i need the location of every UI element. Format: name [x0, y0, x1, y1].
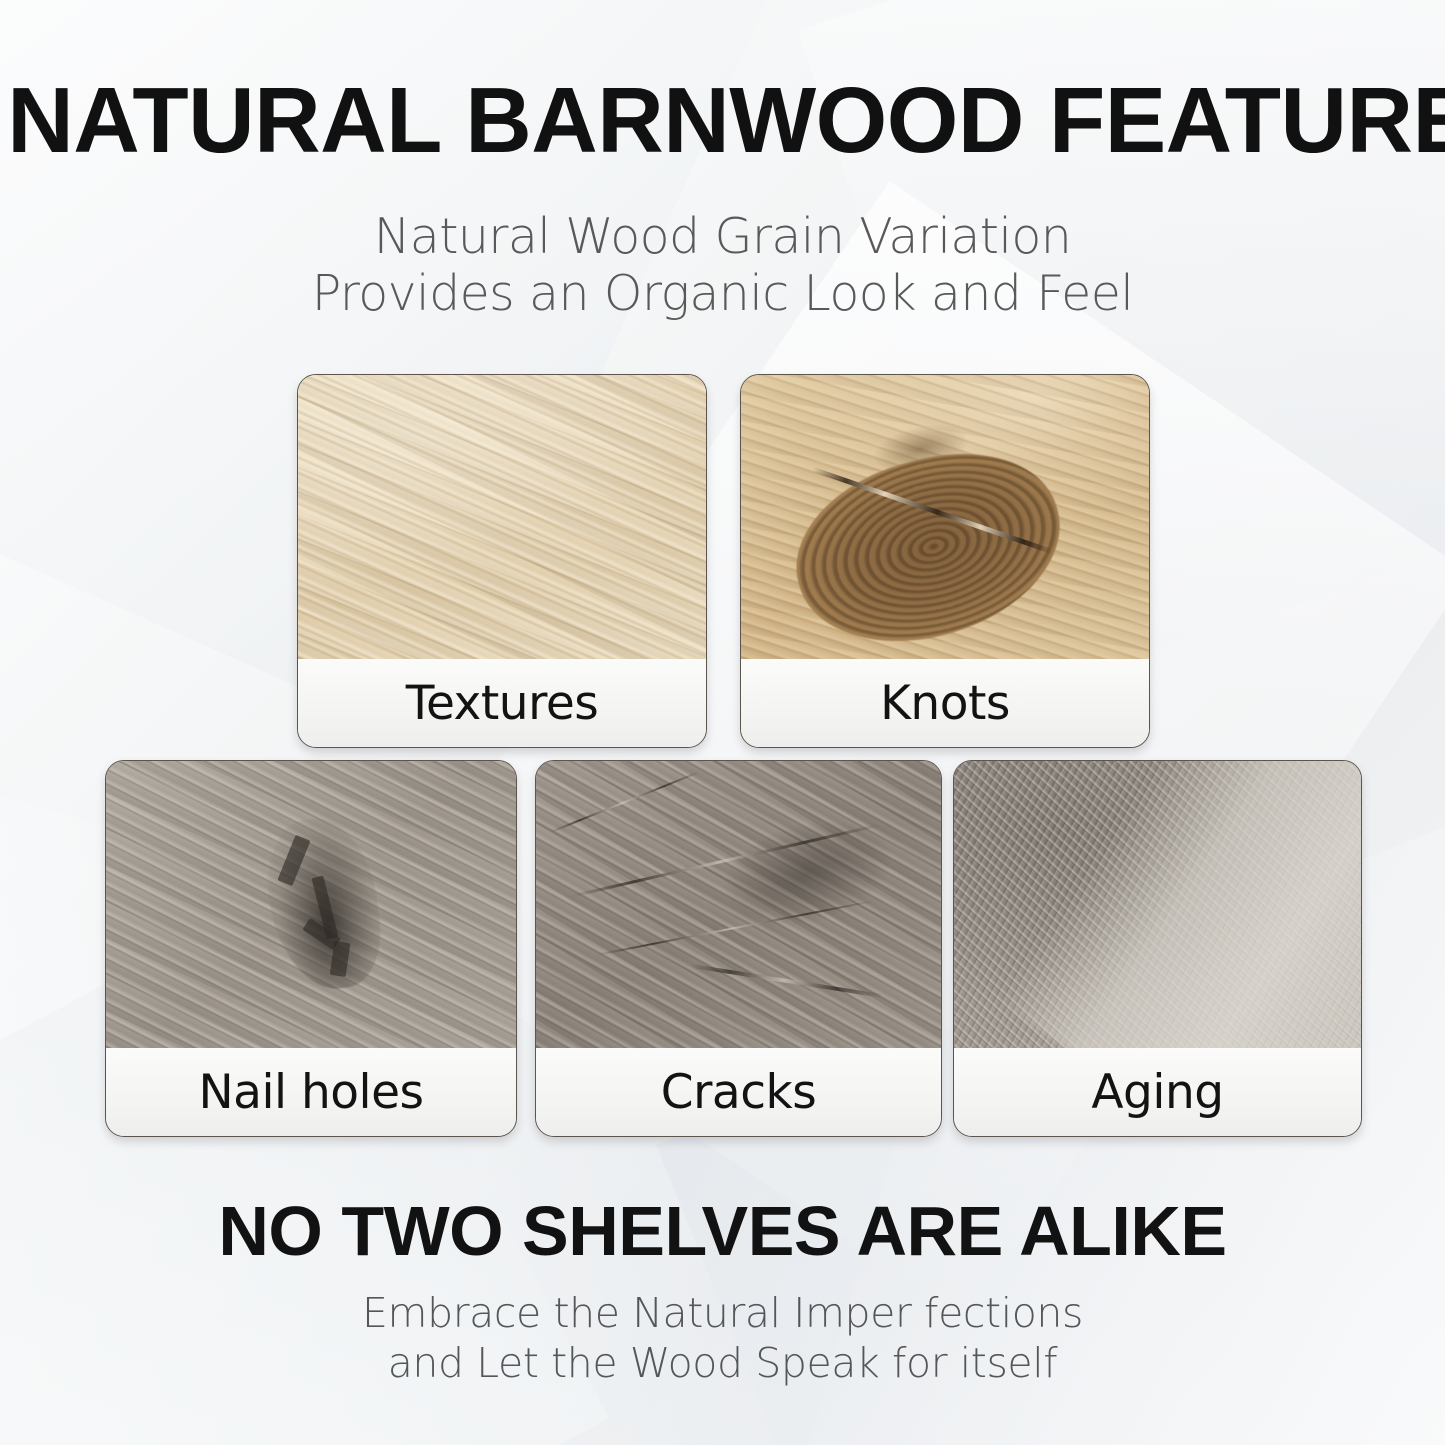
footer-headline: NO TWO SHELVES ARE ALIKE: [0, 1196, 1445, 1266]
page-title: NATURAL BARNWOOD FEATURES: [7, 74, 1438, 167]
feature-label-cracks: Cracks: [536, 1048, 941, 1136]
page-subtitle-line-1: Natural Wood Grain Variation: [0, 208, 1445, 265]
feature-image-cracks: [536, 761, 941, 1048]
page-subtitle-line-2: Provides an Organic Look and Feel: [0, 265, 1445, 322]
footer-tagline-line-1: Embrace the Natural Imper fections: [0, 1288, 1445, 1338]
feature-label-knots: Knots: [741, 659, 1149, 747]
feature-image-knots: [741, 375, 1149, 659]
feature-label-nail-holes: Nail holes: [106, 1048, 516, 1136]
wood-texture-light-grain: [298, 375, 706, 659]
feature-label-textures: Textures: [298, 659, 706, 747]
feature-card-cracks[interactable]: Cracks: [535, 760, 942, 1137]
infographic-page: NATURAL BARNWOOD FEATURES Natural Wood G…: [0, 0, 1445, 1445]
feature-card-nail-holes[interactable]: Nail holes: [105, 760, 517, 1137]
footer-tagline-line-2: and Let the Wood Speak for itself: [0, 1338, 1445, 1388]
page-subtitle: Natural Wood Grain Variation Provides an…: [0, 208, 1445, 323]
feature-image-textures: [298, 375, 706, 659]
feature-image-nail-holes: [106, 761, 516, 1048]
feature-card-textures[interactable]: Textures: [297, 374, 707, 748]
feature-card-knots[interactable]: Knots: [740, 374, 1150, 748]
feature-card-aging[interactable]: Aging: [953, 760, 1362, 1137]
feature-label-aging: Aging: [954, 1048, 1361, 1136]
feature-image-aging: [954, 761, 1361, 1048]
background-facet: [386, 181, 1445, 1319]
footer-tagline: Embrace the Natural Imper fections and L…: [0, 1288, 1445, 1388]
